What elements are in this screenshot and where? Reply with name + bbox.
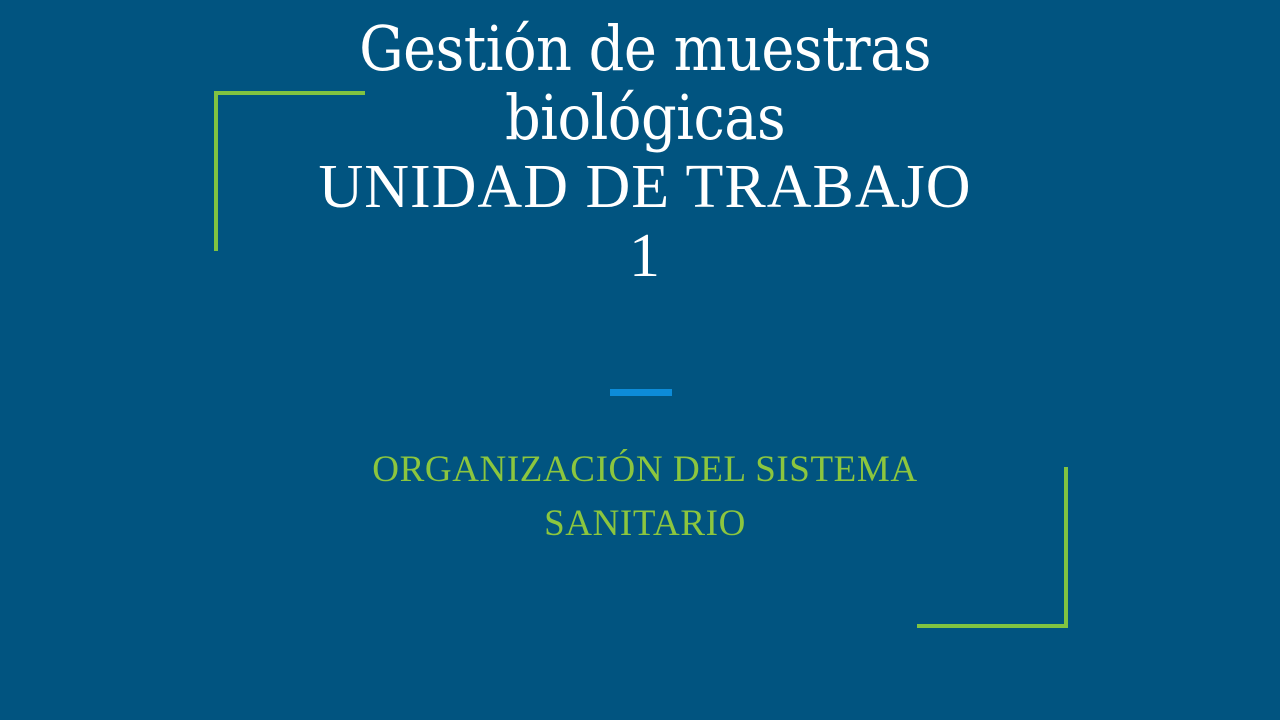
- title-line-4: 1: [190, 222, 1100, 291]
- title-divider-rule: [610, 389, 672, 396]
- subtitle-line-1: ORGANIZACIÓN DEL SISTEMA: [240, 443, 1050, 497]
- slide-title: Gestión de muestras biológicas UNIDAD DE…: [190, 14, 1100, 292]
- title-line-1: Gestión de muestras: [190, 14, 1100, 83]
- slide-subtitle: ORGANIZACIÓN DEL SISTEMA SANITARIO: [240, 443, 1050, 552]
- title-line-2: biológicas: [190, 83, 1100, 152]
- bottom-right-bracket-horizontal-line: [917, 624, 1068, 628]
- bottom-right-bracket-vertical-line: [1064, 467, 1068, 628]
- subtitle-line-2: SANITARIO: [240, 497, 1050, 551]
- title-line-3: UNIDAD DE TRABAJO: [190, 153, 1100, 222]
- title-slide: Gestión de muestras biológicas UNIDAD DE…: [0, 0, 1280, 720]
